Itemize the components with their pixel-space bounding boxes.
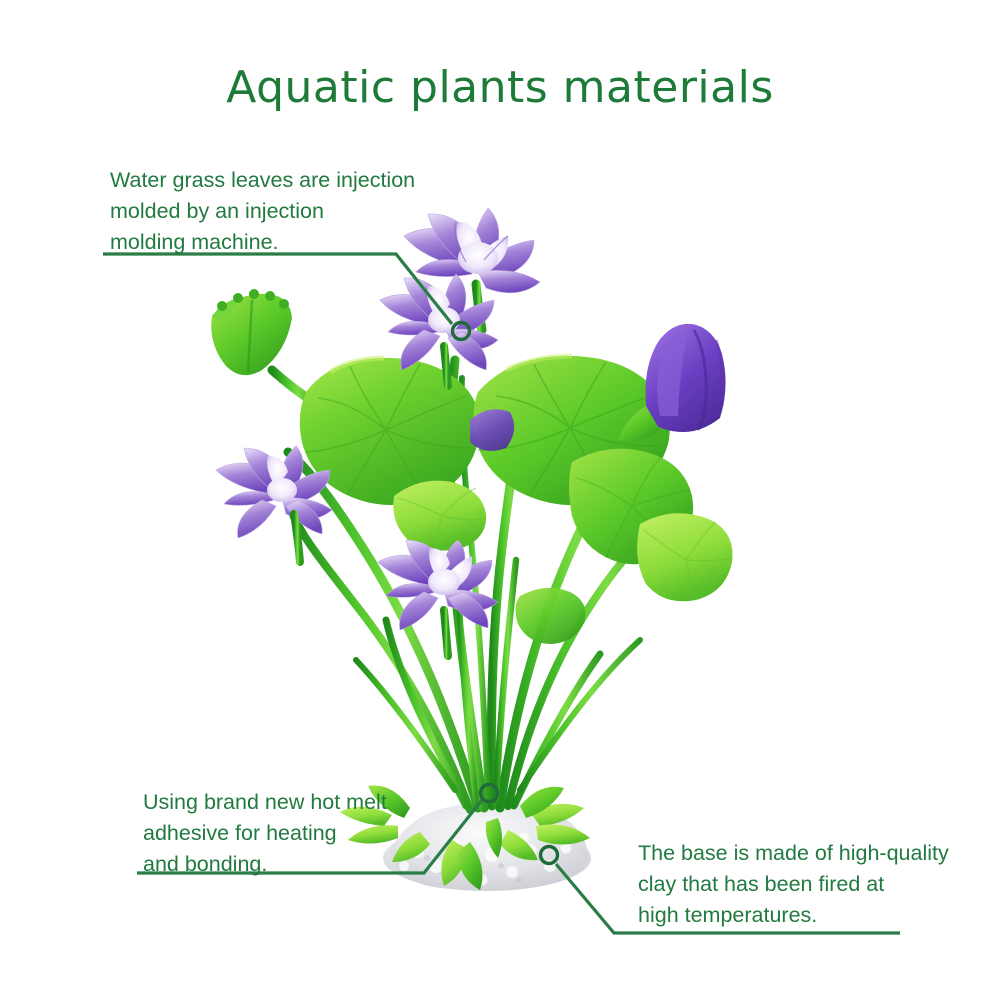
callout-clay-base: The base is made of high-quality clay th…: [638, 838, 968, 931]
leaf-lower-right: [637, 513, 732, 601]
lotus-petal-hidden-center: [470, 409, 514, 451]
callout-water-grass-leaves: Water grass leaves are injection molded …: [110, 165, 470, 258]
funnel-leaf-top-left: [211, 289, 316, 404]
infographic-canvas: Aquatic plants materials: [0, 0, 1000, 1000]
callout-hot-melt-adhesive: Using brand new hot melt adhesive for he…: [143, 787, 443, 880]
